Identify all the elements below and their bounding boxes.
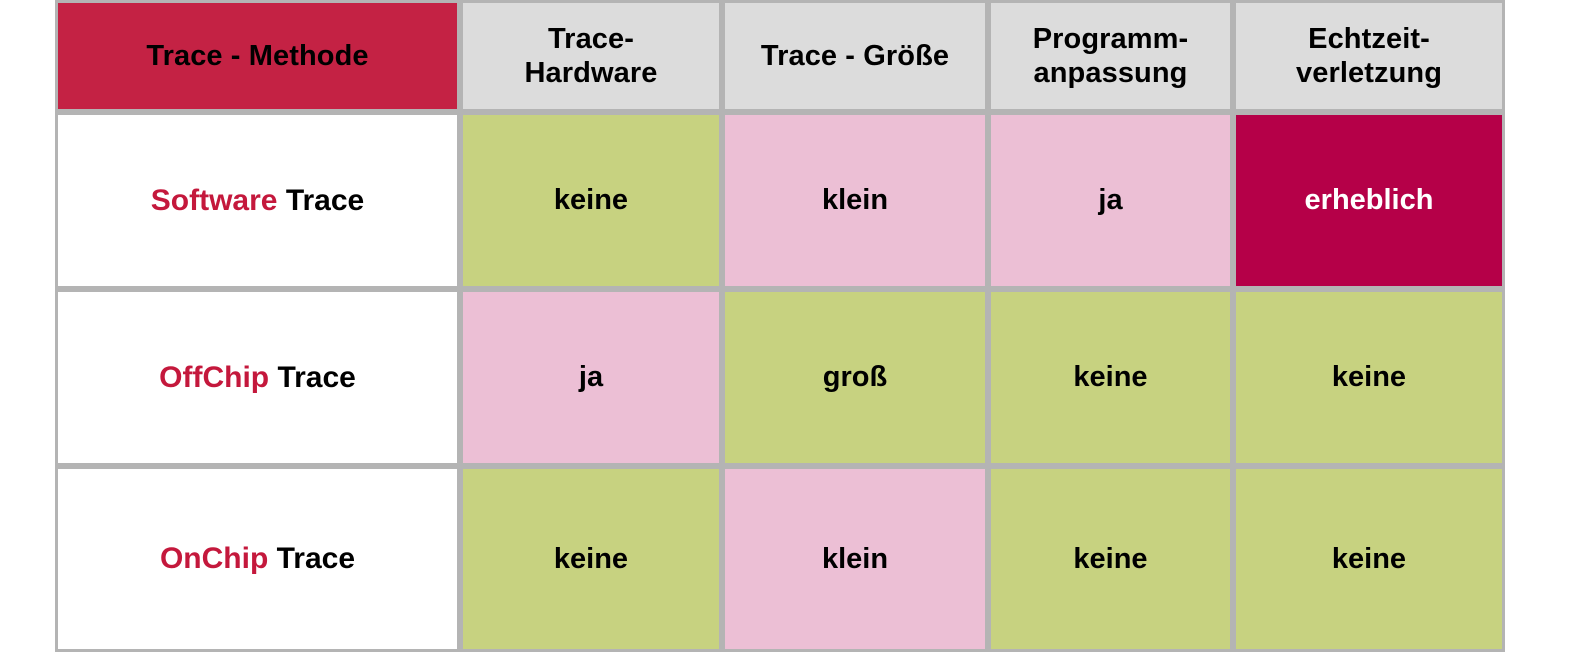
- row-label-rest: Trace: [277, 184, 364, 217]
- row-label-highlight: OnChip: [160, 542, 268, 575]
- column-header-size: Trace - Größe: [722, 0, 988, 112]
- cell-onchip-realtime: keine: [1233, 466, 1505, 652]
- row-label-offchip-trace: OffChip Trace: [55, 289, 460, 466]
- cell-software-realtime: erheblich: [1233, 112, 1505, 289]
- table-row: OnChip Trace keine klein keine keine: [55, 466, 1505, 652]
- row-label-onchip-trace: OnChip Trace: [55, 466, 460, 652]
- table-header: Trace - Methode Trace- Hardware Trace - …: [55, 0, 1505, 112]
- table-body: Software Trace keine klein ja erheblich …: [55, 112, 1505, 652]
- row-label-software-trace: Software Trace: [55, 112, 460, 289]
- table-row: Software Trace keine klein ja erheblich: [55, 112, 1505, 289]
- cell-onchip-hardware: keine: [460, 466, 722, 652]
- cell-offchip-hardware: ja: [460, 289, 722, 466]
- column-header-program-line1: Programm-: [1033, 23, 1189, 55]
- row-label-highlight: Software: [151, 184, 278, 217]
- cell-software-size: klein: [722, 112, 988, 289]
- column-header-realtime-line2: verletzung: [1296, 57, 1442, 89]
- row-label-rest: Trace: [269, 361, 356, 394]
- trace-method-comparison-table: Trace - Methode Trace- Hardware Trace - …: [55, 0, 1505, 652]
- column-header-method: Trace - Methode: [55, 0, 460, 112]
- cell-software-hardware: keine: [460, 112, 722, 289]
- cell-offchip-size: groß: [722, 289, 988, 466]
- cell-onchip-program: keine: [988, 466, 1233, 652]
- column-header-hardware: Trace- Hardware: [460, 0, 722, 112]
- comparison-table-wrapper: Trace - Methode Trace- Hardware Trace - …: [55, 0, 1505, 653]
- table-row: OffChip Trace ja groß keine keine: [55, 289, 1505, 466]
- cell-software-program: ja: [988, 112, 1233, 289]
- cell-offchip-realtime: keine: [1233, 289, 1505, 466]
- column-header-hardware-line2: Hardware: [525, 57, 658, 89]
- row-label-highlight: OffChip: [159, 361, 269, 394]
- column-header-realtime-line1: Echtzeit-: [1308, 23, 1430, 55]
- screenshot-canvas: Trace - Methode Trace- Hardware Trace - …: [0, 0, 1570, 653]
- table-header-row: Trace - Methode Trace- Hardware Trace - …: [55, 0, 1505, 112]
- cell-onchip-size: klein: [722, 466, 988, 652]
- row-label-rest: Trace: [268, 542, 355, 575]
- column-header-program: Programm- anpassung: [988, 0, 1233, 112]
- cell-offchip-program: keine: [988, 289, 1233, 466]
- column-header-hardware-line1: Trace-: [548, 23, 634, 55]
- column-header-program-line2: anpassung: [1034, 57, 1188, 89]
- column-header-realtime: Echtzeit- verletzung: [1233, 0, 1505, 112]
